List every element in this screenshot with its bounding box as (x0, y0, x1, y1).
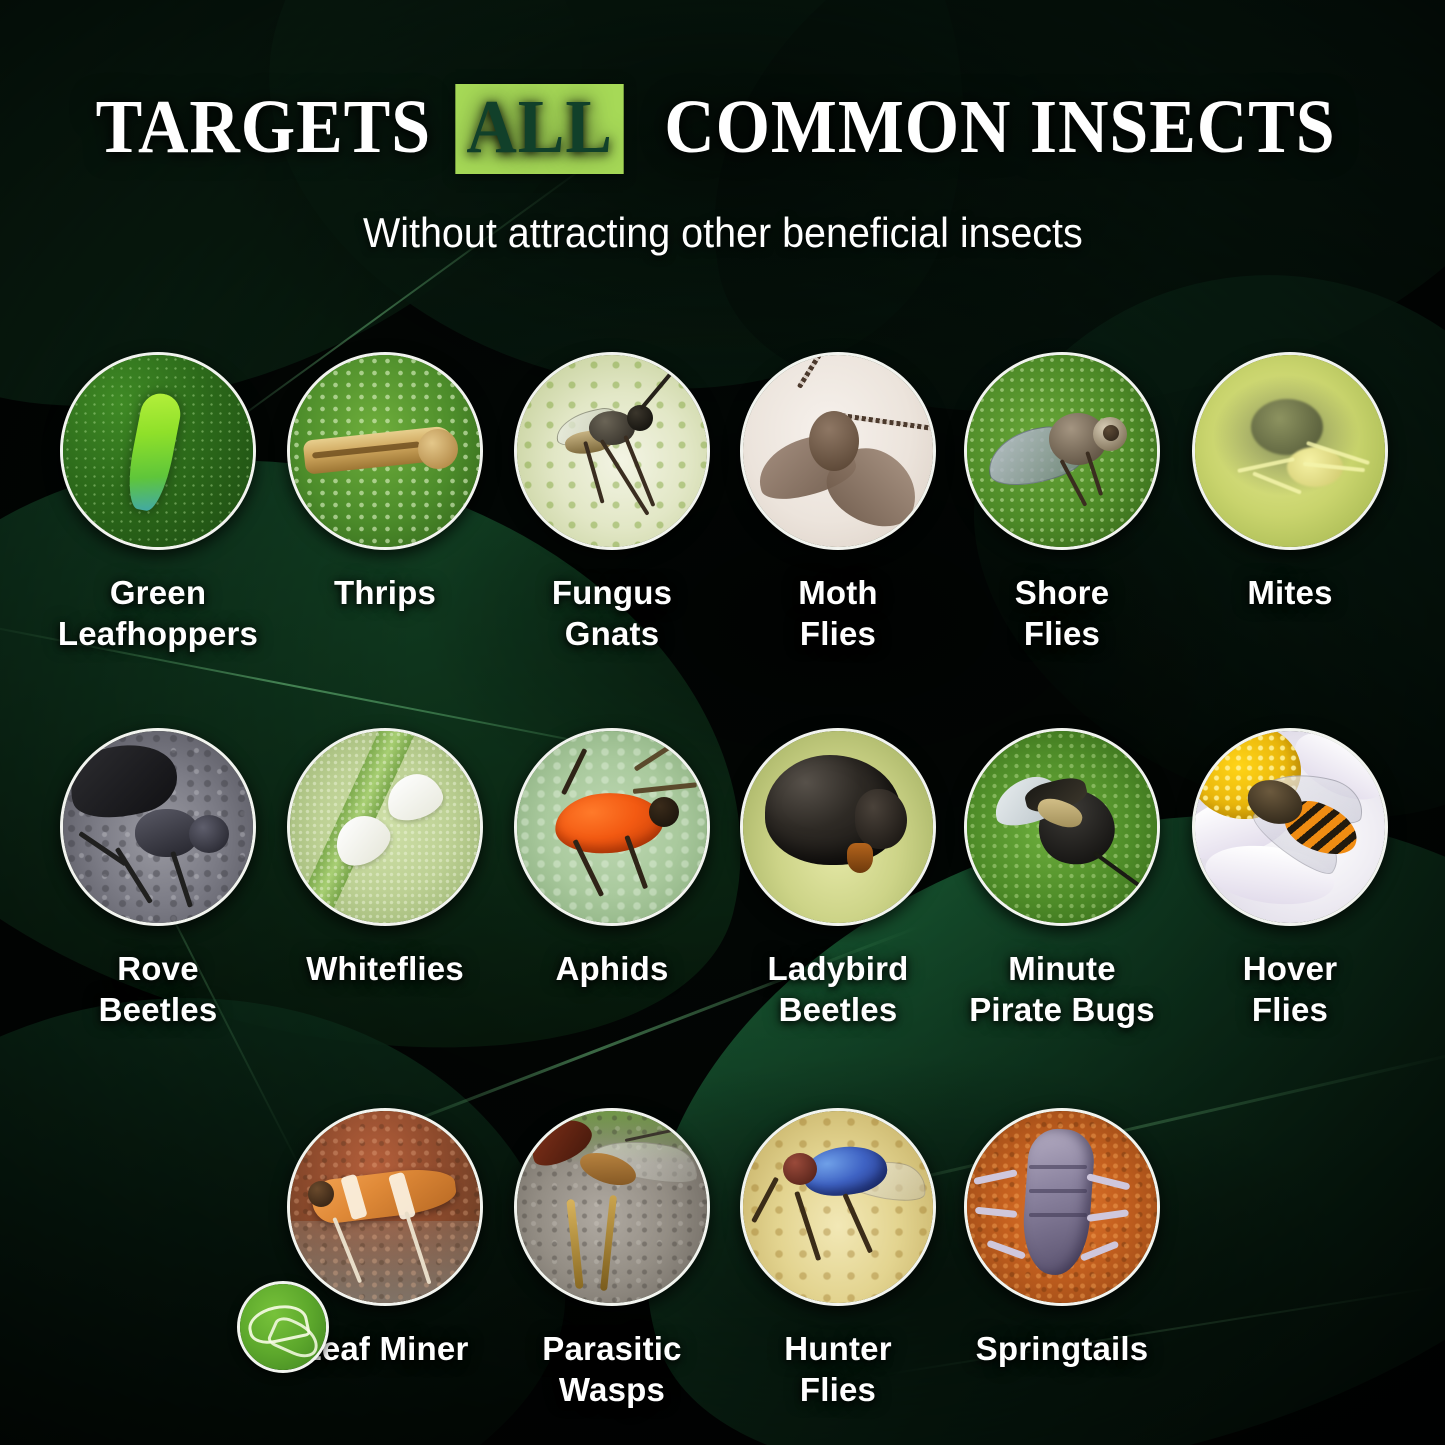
insect-cell-ladybird-beetles[interactable]: Ladybird Beetles (720, 728, 956, 1030)
insect-photo-whiteflies[interactable] (287, 728, 483, 926)
insect-photo-aphids[interactable] (514, 728, 710, 926)
insect-label-fungus-gnats: Fungus Gnats (494, 572, 730, 654)
insect-cell-aphids[interactable]: Aphids (494, 728, 730, 989)
headline-highlight-all: ALL (456, 84, 625, 174)
photo-mites (1195, 355, 1385, 547)
moss-texture (517, 355, 707, 547)
springtail-segment-1 (1029, 1165, 1087, 1169)
label-line-1: Parasitic (494, 1328, 730, 1369)
shorefly-eye (1103, 425, 1119, 441)
insect-label-minute-pirate-bugs: Minute Pirate Bugs (944, 948, 1180, 1030)
photo-leaf-mine-trail (240, 1284, 326, 1370)
insect-cell-rove-beetles[interactable]: Rove Beetles (40, 728, 276, 1030)
insect-cell-parasitic-wasps[interactable]: Parasitic Wasps (494, 1108, 730, 1410)
insect-cell-thrips[interactable]: Thrips (267, 352, 503, 613)
insect-label-mites: Mites (1172, 572, 1408, 613)
insect-photo-springtails[interactable] (964, 1108, 1160, 1306)
label-line-2: Beetles (40, 989, 276, 1030)
photo-aphid (517, 731, 707, 923)
insect-photo-minute-pirate-bugs[interactable] (964, 728, 1160, 926)
page-title: TARGETSALLCOMMON INSECTS (0, 84, 1445, 174)
photo-hunter-fly (743, 1111, 933, 1303)
headline-part-2: COMMON INSECTS (664, 86, 1335, 168)
label-line-1: Mites (1172, 572, 1408, 613)
springtail-segment-2 (1029, 1189, 1087, 1193)
insect-cell-mites[interactable]: Mites (1172, 352, 1408, 613)
photo-hover-fly (1195, 731, 1385, 923)
insect-photo-fungus-gnats[interactable] (514, 352, 710, 550)
label-line-1: Fungus (494, 572, 730, 613)
thrips-head (418, 429, 458, 469)
label-line-2: Pirate Bugs (944, 989, 1180, 1030)
insect-photo-hunter-flies[interactable] (740, 1108, 936, 1306)
label-line-2: Flies (1172, 989, 1408, 1030)
insect-label-hunter-flies: Hunter Flies (720, 1328, 956, 1410)
label-line-1: Springtails (944, 1328, 1180, 1369)
photo-moth-fly (743, 355, 933, 547)
mine-trail-path-2 (266, 1313, 325, 1363)
surface-spots-texture (743, 1111, 933, 1303)
insect-label-thrips: Thrips (267, 572, 503, 613)
headline-part-1: TARGETS (95, 86, 430, 168)
label-line-1: Hover (1172, 948, 1408, 989)
mothfly-thorax (809, 411, 859, 471)
insect-photo-ladybird-beetles[interactable] (740, 728, 936, 926)
label-line-1: Minute (944, 948, 1180, 989)
label-line-2: Flies (720, 1369, 956, 1410)
photo-springtail (967, 1111, 1157, 1303)
photo-fungus-gnat (517, 355, 707, 547)
insect-cell-hover-flies[interactable]: Hover Flies (1172, 728, 1408, 1030)
insect-photo-parasitic-wasps[interactable] (514, 1108, 710, 1306)
insect-cell-shore-flies[interactable]: Shore Flies (944, 352, 1180, 654)
aphid-head (649, 797, 679, 827)
mothfly-antenna-1 (797, 352, 843, 389)
label-line-2: Gnats (494, 613, 730, 654)
label-line-1: Rove (40, 948, 276, 989)
insect-photo-moth-flies[interactable] (740, 352, 936, 550)
springtail-segment-3 (1029, 1213, 1087, 1217)
label-line-1: Moth (720, 572, 956, 613)
label-line-1: Green (40, 572, 276, 613)
insect-cell-springtails[interactable]: Springtails (944, 1108, 1180, 1369)
insect-label-green-leafhoppers: Green Leafhoppers (40, 572, 276, 654)
insect-label-parasitic-wasps: Parasitic Wasps (494, 1328, 730, 1410)
insect-photo-rove-beetles[interactable] (60, 728, 256, 926)
insect-photo-leaf-miner[interactable] (287, 1108, 483, 1306)
insect-label-ladybird-beetles: Ladybird Beetles (720, 948, 956, 1030)
rovebeetle-head (189, 815, 229, 853)
insect-label-whiteflies: Whiteflies (267, 948, 503, 989)
insect-cell-green-leafhoppers[interactable]: Green Leafhoppers (40, 352, 276, 654)
hunterfly-head (783, 1153, 817, 1185)
ladybird-mouthparts (847, 843, 873, 873)
insect-cell-fungus-gnats[interactable]: Fungus Gnats (494, 352, 730, 654)
photo-leaf-miner (290, 1111, 480, 1303)
page-subtitle: Without attracting other beneficial inse… (0, 205, 1445, 261)
insect-photo-thrips[interactable] (287, 352, 483, 550)
insect-photo-shore-flies[interactable] (964, 352, 1160, 550)
insect-label-moth-flies: Moth Flies (720, 572, 956, 654)
insect-photo-green-leafhoppers[interactable] (60, 352, 256, 550)
insect-label-springtails: Springtails (944, 1328, 1180, 1369)
insect-cell-hunter-flies[interactable]: Hunter Flies (720, 1108, 956, 1410)
insect-label-aphids: Aphids (494, 948, 730, 989)
insect-label-hover-flies: Hover Flies (1172, 948, 1408, 1030)
insect-cell-whiteflies[interactable]: Whiteflies (267, 728, 503, 989)
insect-label-shore-flies: Shore Flies (944, 572, 1180, 654)
label-line-2: Beetles (720, 989, 956, 1030)
ladybird-head (855, 789, 907, 849)
label-line-1: Thrips (267, 572, 503, 613)
leaf-mine-trail-inset[interactable] (237, 1281, 329, 1373)
insect-photo-hover-flies[interactable] (1192, 728, 1388, 926)
label-line-2: Flies (720, 613, 956, 654)
label-line-2: Flies (944, 613, 1180, 654)
label-line-1: Shore (944, 572, 1180, 613)
photo-minute-pirate-bug (967, 731, 1157, 923)
leafminer-head (308, 1181, 334, 1207)
label-line-1: Aphids (494, 948, 730, 989)
label-line-2: Leafhoppers (40, 613, 276, 654)
photo-rove-beetle (63, 731, 253, 923)
photo-thrips (290, 355, 480, 547)
label-line-1: Ladybird (720, 948, 956, 989)
insect-photo-mites[interactable] (1192, 352, 1388, 550)
subtitle-text: Without attracting other beneficial inse… (363, 205, 1083, 261)
label-line-1: Hunter (720, 1328, 956, 1369)
photo-shore-fly (967, 355, 1157, 547)
label-line-1: Whiteflies (267, 948, 503, 989)
photo-ladybird-beetle (743, 731, 933, 923)
insect-label-rove-beetles: Rove Beetles (40, 948, 276, 1030)
photo-green-leafhopper (63, 355, 253, 547)
insect-cell-minute-pirate-bugs[interactable]: Minute Pirate Bugs (944, 728, 1180, 1030)
label-line-2: Wasps (494, 1369, 730, 1410)
insect-cell-leaf-miner[interactable]: Leaf Miner (267, 1108, 503, 1369)
photo-parasitic-wasp (517, 1111, 707, 1303)
insect-cell-moth-flies[interactable]: Moth Flies (720, 352, 956, 654)
photo-whiteflies (290, 731, 480, 923)
